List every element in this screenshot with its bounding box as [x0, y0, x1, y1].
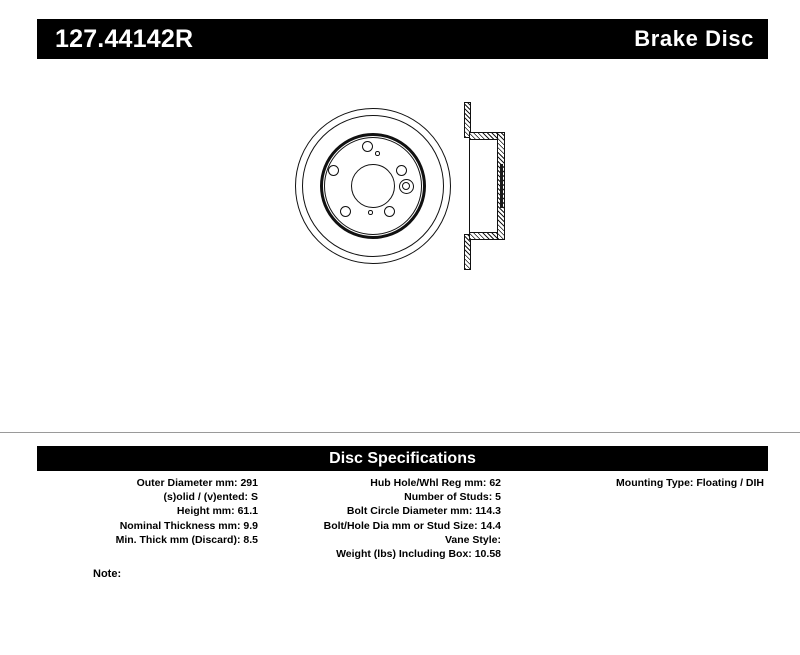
- spec-label: Nominal Thickness mm:: [120, 520, 241, 532]
- lug-hole: [362, 141, 373, 152]
- spec-row: Hub Hole/Whl Reg mm: 62: [260, 476, 501, 490]
- spec-row: Nominal Thickness mm: 9.9: [37, 519, 258, 533]
- spec-value: 114.3: [475, 505, 501, 517]
- spec-row: Vane Style:: [260, 533, 501, 547]
- spec-value: Floating / DIH: [696, 477, 764, 489]
- spec-column-right: Mounting Type: Floating / DIH: [503, 476, 768, 490]
- spec-label: Vane Style:: [445, 534, 501, 546]
- lug-hole: [384, 206, 395, 217]
- spec-row: Weight (lbs) Including Box: 10.58: [260, 547, 501, 561]
- rotor-face-view: [295, 108, 451, 264]
- spec-row: Number of Studs: 5: [260, 490, 501, 504]
- spec-row: Outer Diameter mm: 291: [37, 476, 258, 490]
- spec-label: Bolt Circle Diameter mm:: [347, 505, 472, 517]
- dowel-hole-inner: [402, 182, 410, 190]
- spec-row: Mounting Type: Floating / DIH: [503, 476, 764, 490]
- product-category-label: Brake Disc: [634, 28, 754, 50]
- spec-value: 8.5: [243, 534, 258, 546]
- section-divider: [0, 432, 800, 433]
- spec-value: 291: [240, 477, 258, 489]
- spec-label: Number of Studs:: [404, 491, 492, 503]
- spec-section-title: Disc Specifications: [329, 451, 476, 467]
- spec-value: 62: [489, 477, 501, 489]
- spec-column-left: Outer Diameter mm: 291 (s)olid / (v)ente…: [37, 476, 260, 547]
- hub-hole-circle: [351, 164, 395, 208]
- lug-hole: [396, 165, 407, 176]
- section-edge-core-line: [500, 164, 503, 208]
- lug-hole: [328, 165, 339, 176]
- spec-value: S: [251, 491, 258, 503]
- note-label: Note:: [93, 568, 121, 580]
- spec-label: Bolt/Hole Dia mm or Stud Size:: [324, 520, 478, 532]
- spec-label: Outer Diameter mm:: [137, 477, 238, 489]
- spec-label: Height mm:: [177, 505, 235, 517]
- technical-drawing: [37, 80, 768, 420]
- spec-value: 5: [495, 491, 501, 503]
- spec-value: 61.1: [238, 505, 258, 517]
- spec-row: Min. Thick mm (Discard): 8.5: [37, 533, 258, 547]
- spec-label: Min. Thick mm (Discard):: [116, 534, 241, 546]
- header-bar: 127.44142R Brake Disc: [37, 19, 768, 59]
- page-title: 127.44142R: [55, 27, 193, 52]
- rotor-cross-section-view: [464, 102, 510, 270]
- section-interior-outline: [469, 139, 498, 233]
- spec-value: 10.58: [475, 548, 501, 560]
- spec-column-center: Hub Hole/Whl Reg mm: 62 Number of Studs:…: [260, 476, 503, 561]
- spec-label: (s)olid / (v)ented:: [163, 491, 248, 503]
- spec-row: (s)olid / (v)ented: S: [37, 490, 258, 504]
- spec-row: Bolt/Hole Dia mm or Stud Size: 14.4: [260, 519, 501, 533]
- locating-hole: [375, 151, 380, 156]
- spec-row: Bolt Circle Diameter mm: 114.3: [260, 504, 501, 518]
- spec-label: Hub Hole/Whl Reg mm:: [370, 477, 486, 489]
- spec-section-header: Disc Specifications: [37, 446, 768, 471]
- spec-label: Mounting Type:: [616, 477, 693, 489]
- spec-value: 14.4: [481, 520, 501, 532]
- spec-label: Weight (lbs) Including Box:: [336, 548, 472, 560]
- spec-value: 9.9: [243, 520, 258, 532]
- note-row: Note:: [37, 568, 337, 580]
- spec-row: Height mm: 61.1: [37, 504, 258, 518]
- locating-hole: [368, 210, 373, 215]
- lug-hole: [340, 206, 351, 217]
